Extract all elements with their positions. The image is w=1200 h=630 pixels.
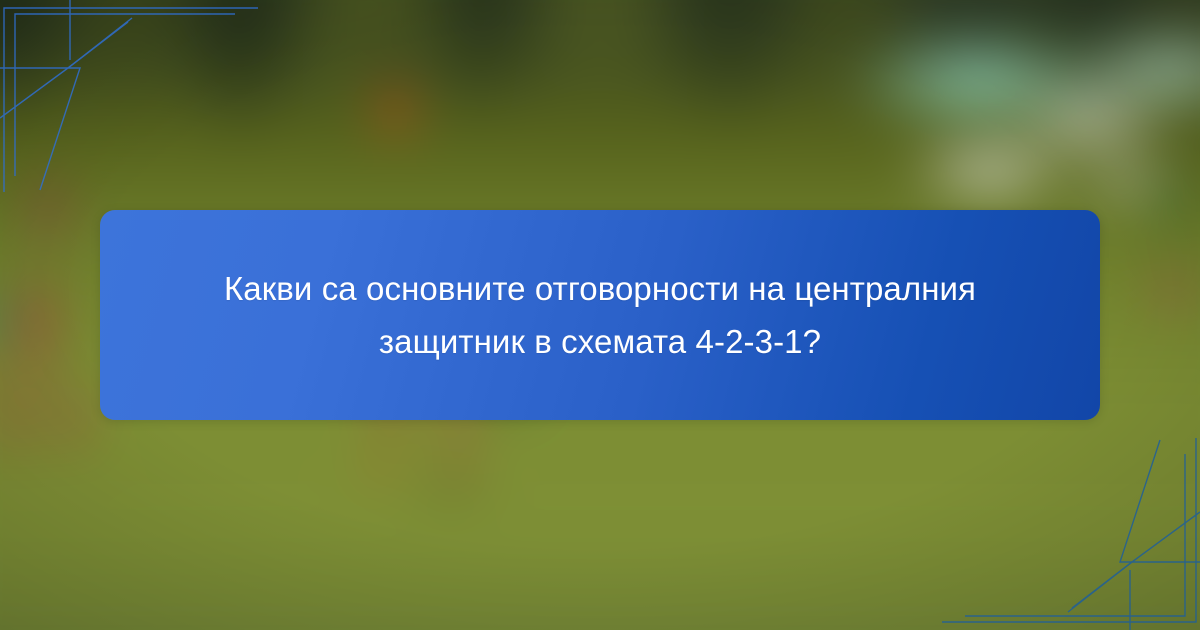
- slide-canvas: Какви са основните отговорности на центр…: [0, 0, 1200, 630]
- question-text: Какви са основните отговорности на центр…: [185, 262, 1015, 369]
- question-card: Какви са основните отговорности на центр…: [100, 210, 1100, 420]
